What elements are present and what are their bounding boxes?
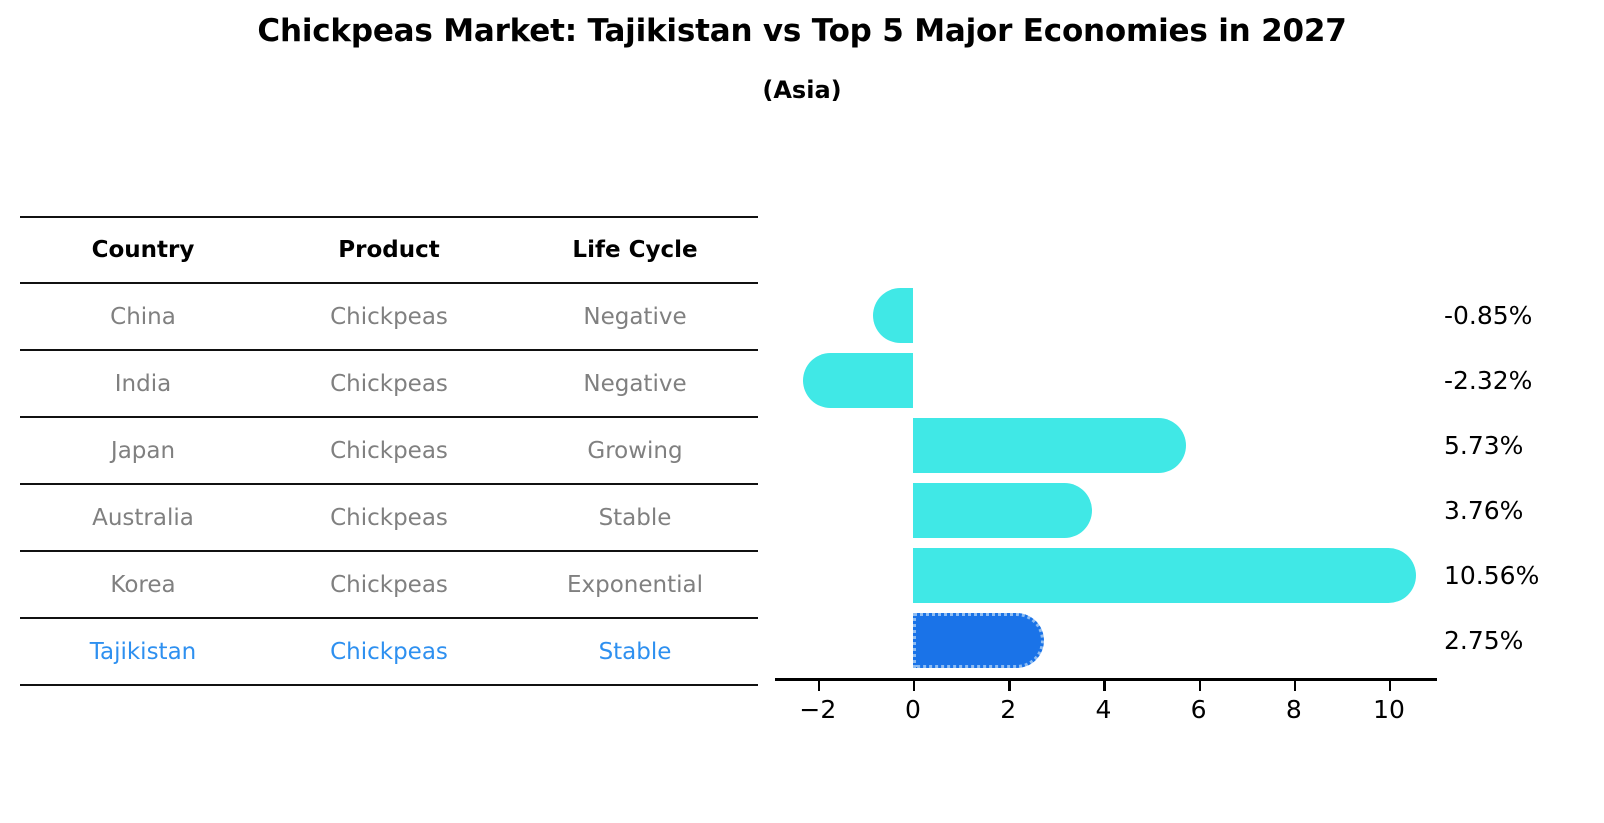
cell-life-cycle: Exponential [512, 551, 758, 618]
x-axis-tick [913, 681, 915, 691]
bar-value-label: -2.32% [1444, 368, 1532, 393]
table-row: China Chickpeas Negative [20, 283, 758, 350]
cell-product: Chickpeas [266, 417, 512, 484]
cell-country: Australia [20, 484, 266, 551]
table-head: Country Product Life Cycle [20, 217, 758, 283]
table-row-highlighted: Tajikistan Chickpeas Stable [20, 618, 758, 685]
x-axis-tick-label: −2 [799, 695, 836, 724]
bar-value-label: 5.73% [1444, 433, 1523, 458]
bar-value-label: 3.76% [1444, 498, 1523, 523]
bar-highlighted [913, 613, 1044, 668]
cell-country: Tajikistan [20, 618, 266, 685]
page-title: Chickpeas Market: Tajikistan vs Top 5 Ma… [0, 14, 1604, 50]
table-row: Australia Chickpeas Stable [20, 484, 758, 551]
cell-life-cycle: Growing [512, 417, 758, 484]
x-axis-tick [1294, 681, 1296, 691]
x-axis-spine [775, 678, 1437, 681]
x-axis-tick-label: 4 [1095, 695, 1111, 724]
column-header-life-cycle: Life Cycle [512, 217, 758, 283]
bar-value-label: 10.56% [1444, 563, 1539, 588]
cell-product: Chickpeas [266, 283, 512, 350]
bar [803, 353, 913, 408]
bar [913, 548, 1416, 603]
cell-country: China [20, 283, 266, 350]
column-header-product: Product [266, 217, 512, 283]
cell-life-cycle: Stable [512, 618, 758, 685]
x-axis-tick-label: 2 [1000, 695, 1016, 724]
x-axis-tick-label: 8 [1286, 695, 1302, 724]
x-axis-tick-label: 6 [1191, 695, 1207, 724]
table-row: Japan Chickpeas Growing [20, 417, 758, 484]
bar [913, 418, 1186, 473]
bar [873, 288, 913, 343]
cell-product: Chickpeas [266, 350, 512, 417]
x-axis-tick [1199, 681, 1201, 691]
cell-country: Japan [20, 417, 266, 484]
x-axis-tick-label: 0 [905, 695, 921, 724]
cell-product: Chickpeas [266, 551, 512, 618]
x-axis-tick [1008, 681, 1010, 691]
cell-life-cycle: Negative [512, 350, 758, 417]
x-axis-tick [818, 681, 820, 691]
bar-value-label: -0.85% [1444, 303, 1532, 328]
bar-value-label: 2.75% [1444, 628, 1523, 653]
country-table: Country Product Life Cycle China Chickpe… [20, 216, 758, 686]
title-block: Chickpeas Market: Tajikistan vs Top 5 Ma… [0, 14, 1604, 104]
x-axis-tick-label: 10 [1373, 695, 1405, 724]
table-row: Korea Chickpeas Exponential [20, 551, 758, 618]
table-row: India Chickpeas Negative [20, 350, 758, 417]
cell-country: Korea [20, 551, 266, 618]
page-subtitle: (Asia) [0, 76, 1604, 104]
x-axis-tick [1389, 681, 1391, 691]
bar [913, 483, 1092, 538]
cell-country: India [20, 350, 266, 417]
table-body: China Chickpeas Negative India Chickpeas… [20, 283, 758, 685]
column-header-country: Country [20, 217, 266, 283]
country-table-panel: Country Product Life Cycle China Chickpe… [20, 216, 758, 686]
x-axis-tick [1103, 681, 1105, 691]
cell-life-cycle: Negative [512, 283, 758, 350]
cell-product: Chickpeas [266, 484, 512, 551]
cell-life-cycle: Stable [512, 484, 758, 551]
table-header-row: Country Product Life Cycle [20, 217, 758, 283]
cell-product: Chickpeas [266, 618, 512, 685]
